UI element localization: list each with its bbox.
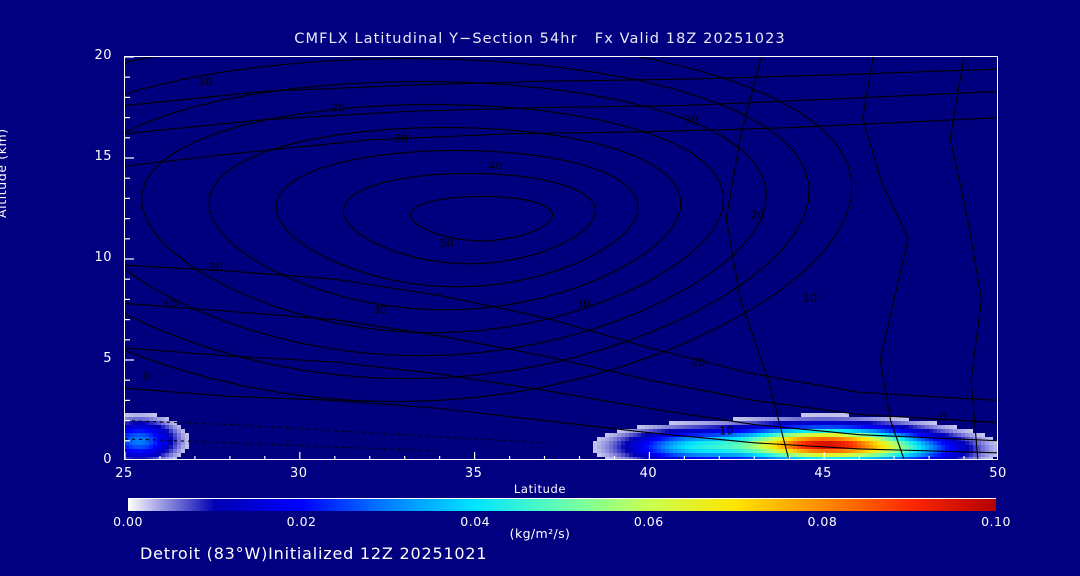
svg-text:10: 10	[803, 291, 817, 304]
x-tick-label: 50	[968, 466, 1028, 481]
cross-section-field: 102030405030202010303010200100	[125, 57, 998, 460]
y-tick-label: 20	[72, 48, 112, 63]
x-tick-label: 35	[444, 466, 504, 481]
x-tick-label: 30	[269, 466, 329, 481]
svg-text:50: 50	[440, 237, 454, 250]
y-tick-label: 0	[72, 452, 112, 467]
chart-title: CMFLX Latitudinal Y−Section 54hr Fx Vali…	[0, 31, 1080, 47]
colorbar	[128, 498, 996, 511]
y-tick-label: 10	[72, 250, 112, 265]
svg-text:20: 20	[751, 209, 765, 222]
figure-canvas: CMFLX Latitudinal Y−Section 54hr Fx Vali…	[0, 0, 1080, 576]
svg-text:20: 20	[331, 102, 345, 115]
svg-text:0: 0	[940, 411, 947, 424]
svg-text:10: 10	[163, 298, 177, 311]
x-tick-label: 40	[618, 466, 678, 481]
x-tick-label: 45	[793, 466, 853, 481]
plot-area: 102030405030202010303010200100	[124, 56, 998, 460]
y-axis-label: Altitude (km)	[0, 128, 9, 218]
x-tick-label: 25	[94, 466, 154, 481]
svg-text:10: 10	[198, 75, 212, 88]
figure-caption: Detroit (83°W)Initialized 12Z 20251021	[140, 544, 487, 563]
svg-text:30: 30	[373, 304, 387, 317]
x-axis-label: Latitude	[0, 482, 1080, 496]
svg-text:30: 30	[576, 298, 590, 311]
svg-text:20: 20	[209, 261, 223, 274]
svg-text:20: 20	[691, 356, 705, 369]
y-tick-label: 15	[72, 149, 112, 164]
colorbar-units: (kg/m²/s)	[0, 526, 1080, 541]
svg-text:0: 0	[143, 370, 150, 383]
svg-text:10: 10	[719, 425, 733, 438]
y-tick-label: 5	[72, 351, 112, 366]
svg-text:40: 40	[489, 160, 503, 173]
colorbar-gradient	[128, 499, 996, 511]
svg-text:30: 30	[684, 114, 698, 127]
svg-text:30: 30	[394, 132, 408, 145]
